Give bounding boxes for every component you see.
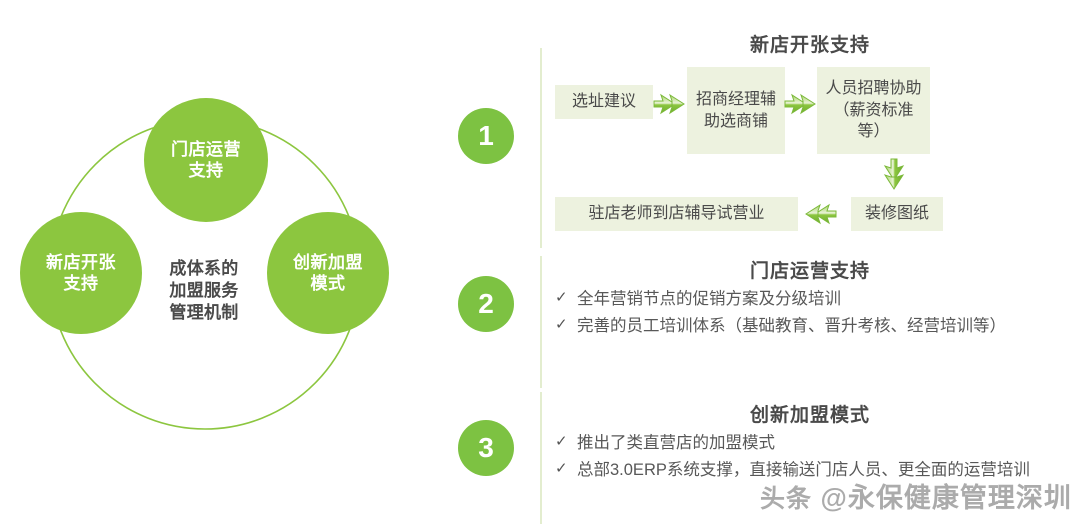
section-title-1: 新店开张支持 [540, 30, 1080, 57]
bubble-right-line2: 模式 [293, 273, 363, 294]
flow-box-resident-teacher-trial-operation[interactable]: 驻店老师到店辅导试营业 [555, 197, 798, 231]
section-title-2: 门店运营支持 [540, 256, 1080, 283]
bullet-text: 推出了类直营店的加盟模式 [577, 434, 775, 452]
bubble-top-line1: 门店运营 [171, 139, 241, 160]
slide-canvas: 门店运营 支持 新店开张 支持 创新加盟 模式 成体系的 加盟服务 管理机制 [0, 0, 1080, 524]
check-icon: ✓ [555, 457, 568, 481]
section-title-3: 创新加盟模式 [540, 400, 1080, 427]
watermark: 头条 @永保健康管理深圳 [760, 476, 1072, 515]
arrow-left-icon [801, 202, 837, 226]
venn-diagram: 门店运营 支持 新店开张 支持 创新加盟 模式 成体系的 加盟服务 管理机制 [0, 78, 440, 478]
watermark-handle: @永保健康管理深圳 [821, 483, 1072, 513]
flow-box-site-selection-advice[interactable]: 选址建议 [555, 85, 653, 119]
section-store-operation-support: 2 门店运营支持 ✓ 全年营销节点的促销方案及分级培训 ✓ 完善的员工培训体系（… [450, 248, 1080, 388]
bubble-new-store-opening-support[interactable]: 新店开张 支持 [20, 212, 142, 334]
section-number-badge-1: 1 [458, 108, 514, 164]
bullet-text: 全年营销节点的促销方案及分级培训 [577, 290, 841, 308]
bubble-left-line1: 新店开张 [46, 252, 116, 273]
flow-box-recruitment-assistance[interactable]: 人员招聘协助（薪资标准等） [817, 67, 930, 154]
flow-box-decoration-drawings[interactable]: 装修图纸 [851, 197, 943, 231]
bullet-text: 完善的员工培训体系（基础教育、晋升考核、经营培训等） [577, 317, 1006, 335]
arrow-right-icon [653, 92, 687, 116]
section-number-badge-3: 3 [458, 420, 514, 476]
arrow-right-icon [784, 92, 818, 116]
venn-center-line1: 成体系的 [169, 258, 238, 280]
watermark-platform: 头条 [760, 485, 812, 513]
content-panel: 1 新店开张支持 选址建议 招商经理辅助选商铺 [450, 0, 1080, 524]
venn-center-label: 成体系的 加盟服务 管理机制 [141, 246, 267, 336]
bullet-list-2: ✓ 全年营销节点的促销方案及分级培训 ✓ 完善的员工培训体系（基础教育、晋升考核… [555, 286, 1055, 340]
bubble-left-line2: 支持 [46, 273, 116, 294]
venn-center-line3: 管理机制 [169, 302, 238, 324]
section-divider-1 [540, 48, 542, 248]
section-number-badge-2: 2 [458, 276, 514, 332]
bubble-store-operation-support[interactable]: 门店运营 支持 [144, 98, 268, 222]
section-new-store-opening-support: 1 新店开张支持 选址建议 招商经理辅助选商铺 [450, 20, 1080, 245]
list-item: ✓ 完善的员工培训体系（基础教育、晋升考核、经营培训等） [555, 313, 1055, 339]
list-item: ✓ 推出了类直营店的加盟模式 [555, 430, 1055, 456]
list-item: ✓ 全年营销节点的促销方案及分级培训 [555, 286, 1055, 312]
bubble-top-line2: 支持 [171, 160, 241, 181]
check-icon: ✓ [555, 286, 568, 310]
venn-center-line2: 加盟服务 [169, 280, 238, 302]
flow-box-investment-manager-helps-select-shop[interactable]: 招商经理辅助选商铺 [687, 67, 785, 154]
check-icon: ✓ [555, 313, 568, 337]
bubble-innovative-franchise-model[interactable]: 创新加盟 模式 [267, 212, 389, 334]
check-icon: ✓ [555, 430, 568, 454]
bubble-right-line1: 创新加盟 [293, 252, 363, 273]
arrow-down-icon [882, 158, 906, 194]
